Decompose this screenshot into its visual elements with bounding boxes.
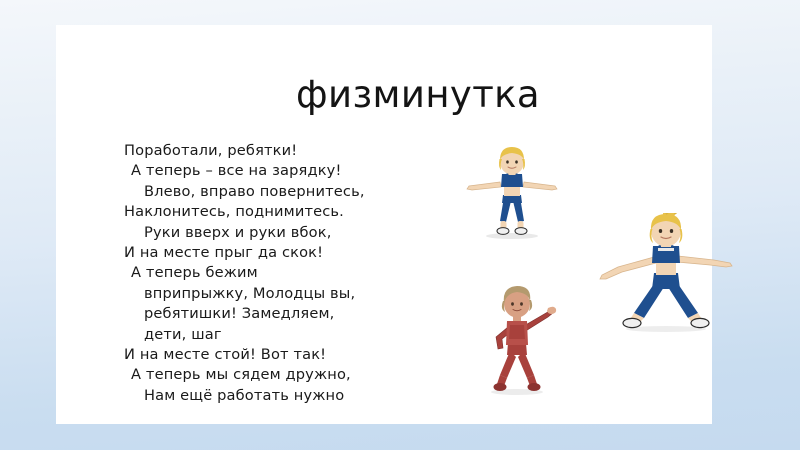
poem-line: Наклонитесь, поднимитесь. bbox=[124, 202, 444, 222]
slide-canvas: физминутка Поработали, ребятки!А теперь … bbox=[56, 25, 712, 424]
poem-line: А теперь мы сядем дружно, bbox=[124, 365, 444, 385]
small-blonde-girl-arms-out-image bbox=[462, 141, 562, 241]
poem-line: ребятишки! Замедляем, bbox=[124, 304, 444, 324]
large-blonde-girl-wide-stance-image bbox=[596, 213, 736, 333]
poem-line: дети, шаг bbox=[124, 325, 444, 345]
poem-line: Нам ещё работать нужно bbox=[124, 386, 444, 406]
poem-text-block: Поработали, ребятки!А теперь – все на за… bbox=[124, 141, 444, 406]
poem-line: А теперь бежим bbox=[124, 263, 444, 283]
poem-line: Влево, вправо повернитесь, bbox=[124, 182, 444, 202]
page-title: физминутка bbox=[253, 73, 583, 117]
poem-line: И на месте стой! Вот так! bbox=[124, 345, 444, 365]
poem-line: вприпрыжку, Молодцы вы, bbox=[124, 284, 444, 304]
slide-viewer: физминутка Поработали, ребятки!А теперь … bbox=[0, 0, 800, 450]
poem-line: А теперь – все на зарядку! bbox=[124, 161, 444, 181]
red-boy-arm-raised-image bbox=[472, 279, 562, 397]
poem-line: Поработали, ребятки! bbox=[124, 141, 444, 161]
poem-line: Руки вверх и руки вбок, bbox=[124, 223, 444, 243]
poem-line: И на месте прыг да скок! bbox=[124, 243, 444, 263]
